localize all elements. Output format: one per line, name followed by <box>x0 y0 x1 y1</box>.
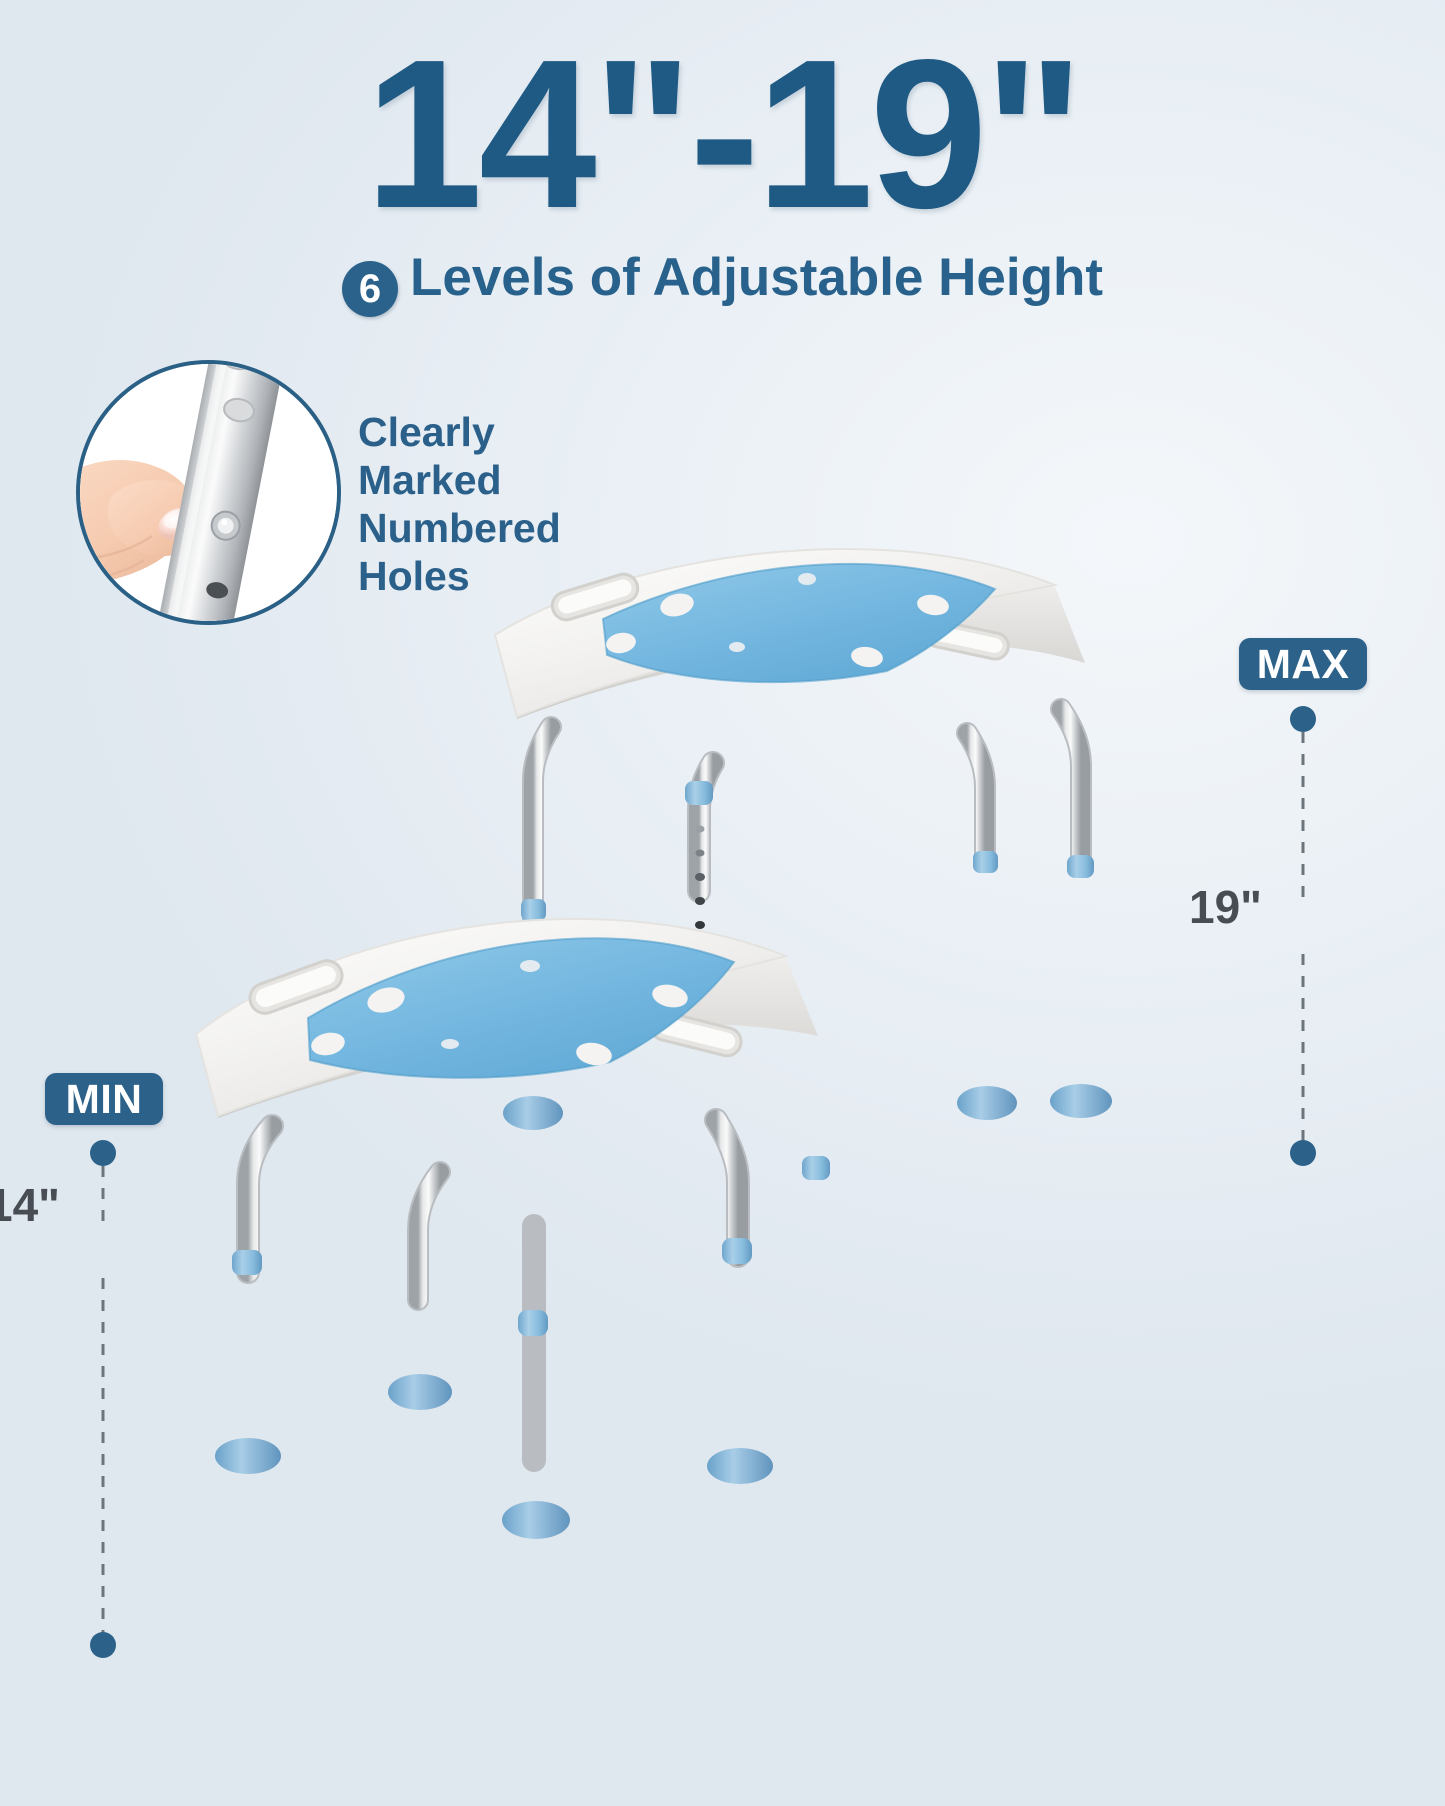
min-height-value: 14" <box>0 1178 60 1232</box>
inset-caption-line-1: Clearly <box>358 408 561 456</box>
min-height-tag: MIN <box>45 1073 163 1125</box>
max-top-dot <box>1290 706 1316 732</box>
numbered-holes-inset <box>76 360 341 625</box>
subtitle-text: Levels of Adjustable Height <box>410 248 1103 307</box>
max-bottom-dot <box>1290 1140 1316 1166</box>
max-dimension-line <box>1295 732 1311 1152</box>
min-bottom-dot <box>90 1632 116 1658</box>
min-top-dot <box>90 1140 116 1166</box>
infographic-page: 14"-19" 6Levels of Adjustable Height <box>0 0 1445 1806</box>
subtitle: 6Levels of Adjustable Height <box>0 248 1445 317</box>
stool-seat-min <box>196 919 818 1118</box>
shower-stool-min-height <box>150 820 850 1610</box>
inset-circle-frame <box>76 360 341 625</box>
max-height-value: 19" <box>1189 880 1262 934</box>
min-dimension-line <box>95 1166 111 1648</box>
page-title: 14"-19" <box>0 34 1445 234</box>
levels-count-badge: 6 <box>342 261 398 317</box>
max-height-tag: MAX <box>1239 638 1367 690</box>
hand-on-tube-illustration <box>80 364 337 621</box>
stool-seat-max <box>495 549 1085 719</box>
stool-legs-min <box>215 1120 830 1539</box>
